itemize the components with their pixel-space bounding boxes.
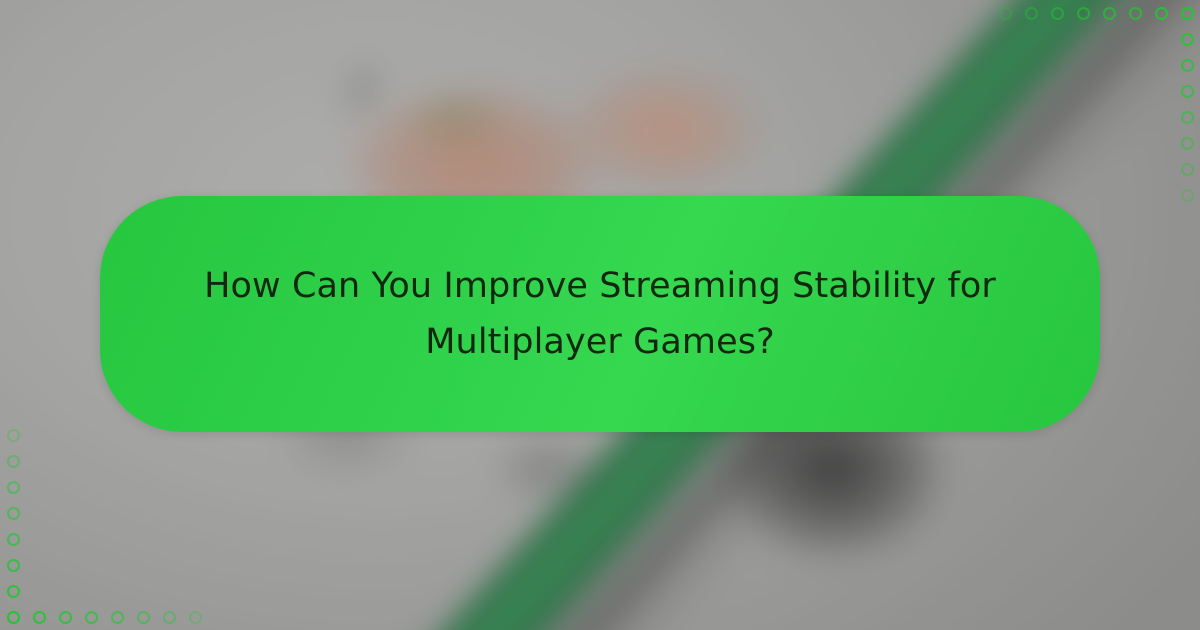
decorative-dot (1181, 111, 1194, 124)
decorative-dot (111, 611, 124, 624)
decorative-dot (1155, 7, 1168, 20)
page-title: How Can You Improve Streaming Stability … (200, 258, 1000, 370)
decorative-dot (7, 559, 20, 572)
decorative-dot (189, 611, 202, 624)
decorative-dot (1051, 7, 1064, 20)
decorative-dot (7, 429, 20, 442)
decorative-dot (85, 611, 98, 624)
decorative-dot (7, 611, 20, 624)
decorative-dot (1181, 189, 1194, 202)
decorative-dot (33, 611, 46, 624)
decorative-dot (1129, 7, 1142, 20)
decorative-dot (163, 611, 176, 624)
poster-canvas: How Can You Improve Streaming Stability … (0, 0, 1200, 630)
decorative-dot (1181, 137, 1194, 150)
decorative-dot (1025, 7, 1038, 20)
decorative-dot (7, 455, 20, 468)
decorative-dot (137, 611, 150, 624)
dot-grid-bottom-left (0, 422, 208, 630)
decorative-dot (1181, 7, 1194, 20)
decorative-dot (59, 611, 72, 624)
decorative-dot (1181, 163, 1194, 176)
decorative-dot (7, 507, 20, 520)
dot-grid-top-right (992, 0, 1200, 208)
decorative-dot (1077, 7, 1090, 20)
decorative-dot (1181, 59, 1194, 72)
title-card: How Can You Improve Streaming Stability … (100, 196, 1100, 432)
decorative-dot (1181, 85, 1194, 98)
decorative-dot (7, 585, 20, 598)
decorative-dot (7, 533, 20, 546)
decorative-dot (7, 481, 20, 494)
decorative-dot (999, 7, 1012, 20)
decorative-dot (1181, 33, 1194, 46)
decorative-dot (1103, 7, 1116, 20)
